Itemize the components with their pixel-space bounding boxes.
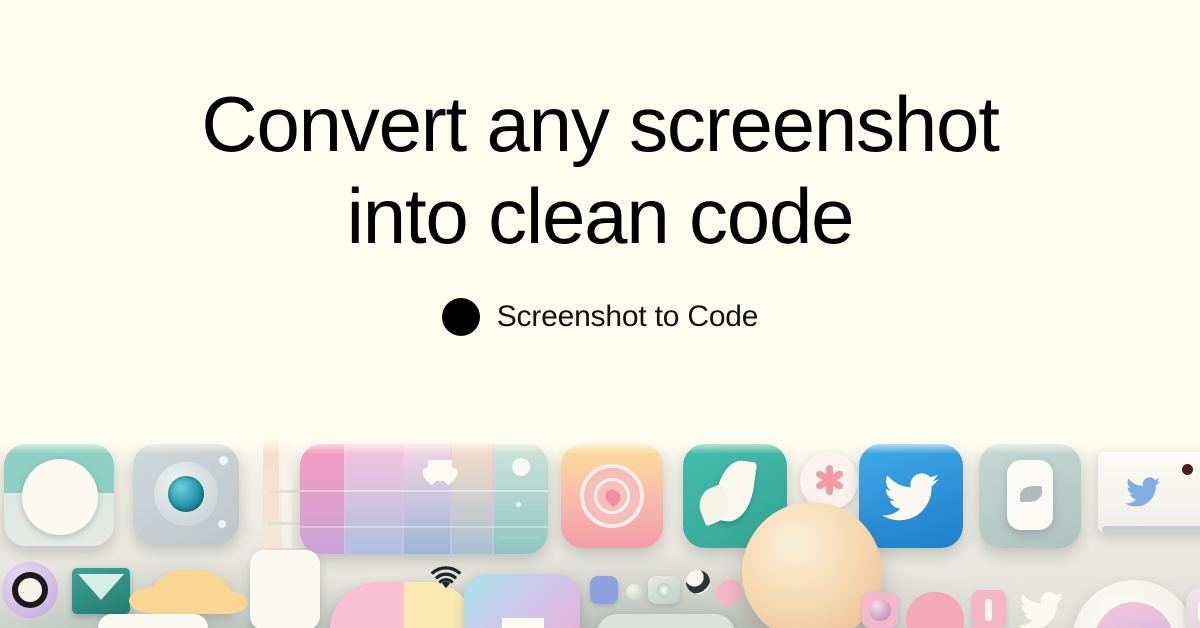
- brand-row: Screenshot to Code: [442, 298, 759, 336]
- twitter-tile-icon: [859, 444, 963, 548]
- wifi-icon: [428, 564, 464, 597]
- chip-icon: [626, 584, 642, 600]
- icon-collage-strip: [0, 438, 1200, 628]
- gradient-heart-tile-icon: [464, 574, 580, 628]
- camera-dot-icon: [219, 456, 228, 465]
- device-tile-icon: [979, 444, 1081, 548]
- chip-icon: [862, 592, 898, 628]
- chip-icon: [972, 590, 1006, 628]
- bird-icon: [1012, 588, 1070, 628]
- toggle-tile-icon: [4, 444, 114, 546]
- brand-name: Screenshot to Code: [497, 300, 759, 334]
- swatch-cell: [346, 444, 402, 554]
- heart-icon: [502, 618, 544, 628]
- plate-icon: [1072, 580, 1196, 628]
- flower-icon: [814, 465, 844, 495]
- blank-tile: [596, 614, 736, 628]
- heart-chip-icon: [711, 574, 746, 609]
- location-tile-icon: [561, 444, 663, 548]
- chip-icon: [648, 576, 680, 604]
- page-title: Convert any screenshot into clean code: [201, 78, 998, 262]
- device-screen-icon: [1007, 460, 1053, 530]
- heart-icon: [428, 460, 452, 481]
- headline-line-1: Convert any screenshot: [201, 78, 998, 170]
- bird-icon: [875, 468, 947, 526]
- cloud-chip-icon: [906, 592, 964, 628]
- swatch-grid-tile-icon: [300, 444, 548, 554]
- chip-icon: [590, 576, 618, 604]
- camera-ring-icon: [154, 462, 218, 526]
- swatch-gridline: [300, 490, 548, 492]
- camera-dot-icon: [218, 520, 226, 528]
- camera-tile-icon: [133, 444, 239, 544]
- record-dot-icon: [1182, 464, 1193, 475]
- banner-content: Convert any screenshot into clean code S…: [0, 0, 1200, 440]
- cloud-icon: [148, 570, 234, 614]
- headline-line-2: into clean code: [201, 170, 998, 262]
- swatch-gridline: [300, 526, 548, 528]
- share-banner: Convert any screenshot into clean code S…: [0, 0, 1200, 628]
- chip-icon: [1186, 588, 1200, 628]
- status-dot-icon: [516, 502, 521, 507]
- device-glyph-icon: [1020, 486, 1042, 502]
- logo-circle-icon: [442, 298, 480, 336]
- envelope-flap-icon: [78, 574, 124, 600]
- swatch-cell: [452, 444, 492, 554]
- ring-icon: [2, 562, 58, 618]
- gradient-disc-icon: [1094, 602, 1174, 628]
- card-base-shadow: [1102, 526, 1200, 532]
- blank-tile: [250, 550, 320, 628]
- swatch-cell: [300, 444, 344, 554]
- chip-icon: [686, 570, 710, 594]
- mail-icon: [72, 568, 130, 614]
- toggle-dot-icon: [512, 458, 530, 476]
- swatch-underline: [498, 536, 538, 539]
- card-tile-icon: [1098, 452, 1200, 532]
- toggle-knob-icon: [22, 459, 98, 535]
- blank-tile: [98, 614, 208, 628]
- camera-lens-icon: [168, 476, 204, 512]
- bird-icon: [1120, 474, 1166, 510]
- ring-core-icon: [18, 578, 42, 602]
